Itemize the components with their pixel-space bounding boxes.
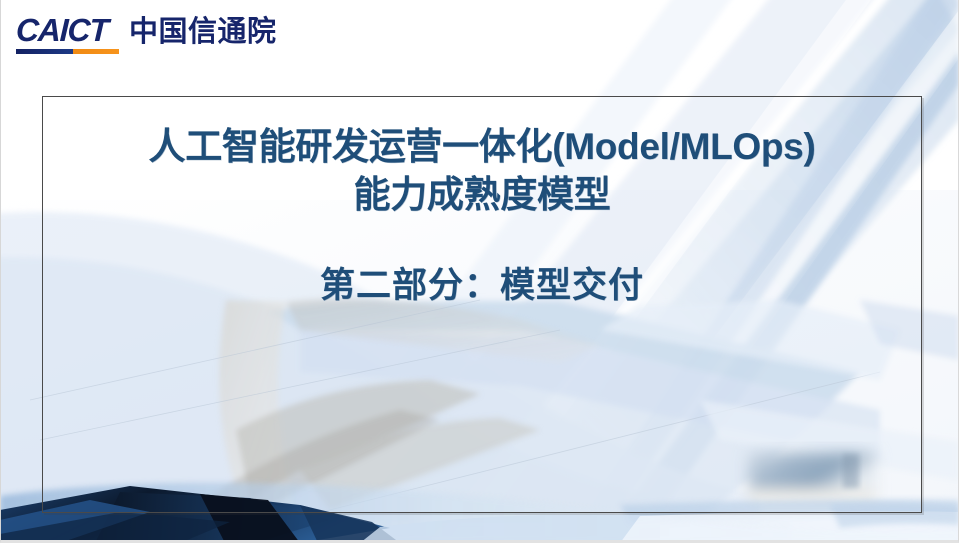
logo-rule-orange-segment [73, 49, 119, 54]
content-frame-border [42, 96, 922, 513]
logo-chinese-name: 中国信通院 [129, 17, 277, 54]
logo-rule-navy-segment [16, 49, 73, 54]
logo-underline-rule [16, 49, 119, 54]
caict-logo: CAICT 中国信通院 [16, 14, 277, 54]
slide-canvas: CAICT 中国信通院 人工智能研发运营一体化(Model/MLOps) 能力成… [0, 0, 959, 543]
logo-acronym: CAICT [15, 14, 119, 46]
logo-mark: CAICT [16, 14, 119, 54]
